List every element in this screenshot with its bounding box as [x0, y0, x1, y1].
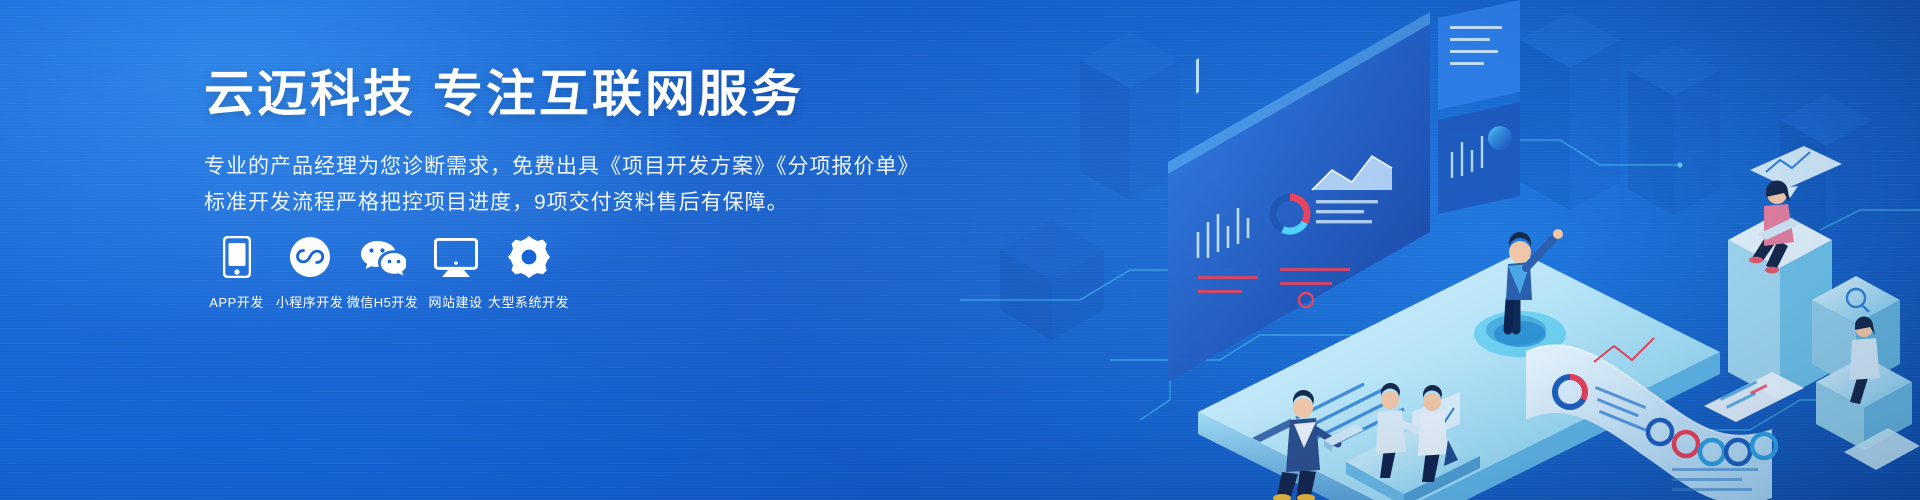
page-title: 云迈科技 专注互联网服务	[204, 66, 964, 122]
service-item-miniprogram[interactable]: 小程序开发	[273, 232, 346, 311]
service-label: 大型系统开发	[488, 292, 569, 311]
subtitle-line-2: 标准开发流程严格把控项目进度，9项交付资料售后有保障。	[204, 186, 964, 220]
service-item-app[interactable]: APP开发	[200, 232, 273, 311]
miniprogram-icon	[289, 232, 331, 278]
service-label: 网站建设	[428, 292, 482, 311]
service-item-website[interactable]: 网站建设	[419, 232, 492, 311]
hero-banner: 云迈科技 专注互联网服务 专业的产品经理为您诊断需求，免费出具《项目开发方案》《…	[0, 0, 1920, 500]
wechat-icon	[360, 232, 406, 278]
service-label: APP开发	[209, 292, 264, 311]
phone-icon	[223, 232, 251, 278]
service-item-large-system[interactable]: 大型系统开发	[492, 232, 565, 311]
subtitle-line-1: 专业的产品经理为您诊断需求，免费出具《项目开发方案》《分项报价单》	[204, 150, 964, 184]
monitor-icon	[434, 232, 478, 278]
service-label: 小程序开发	[276, 292, 344, 311]
service-label: 微信H5开发	[347, 292, 419, 311]
hero-copy: 云迈科技 专注互联网服务 专业的产品经理为您诊断需求，免费出具《项目开发方案》《…	[204, 66, 964, 220]
service-list: APP开发 小程序开发 微信	[200, 232, 565, 311]
isometric-illustration	[960, 0, 1920, 500]
gear-icon	[508, 232, 550, 278]
service-item-wechat-h5[interactable]: 微信H5开发	[346, 232, 419, 311]
